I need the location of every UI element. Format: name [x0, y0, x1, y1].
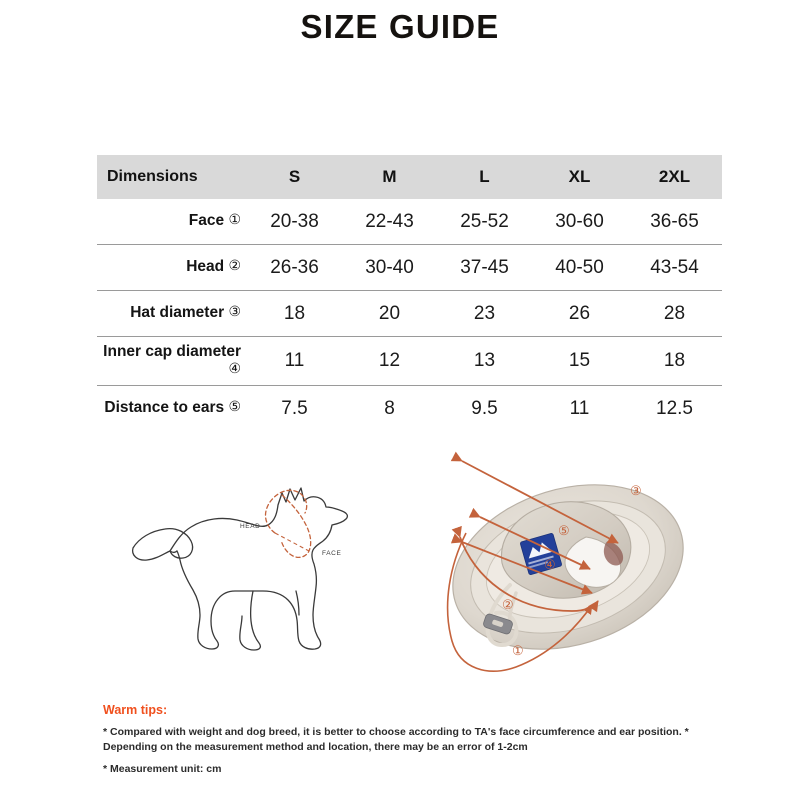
warm-tips-line-1: * Compared with weight and dog breed, it…	[103, 725, 723, 755]
dog-head-label: HEAD	[240, 523, 260, 530]
row-label-text: Head	[186, 258, 224, 275]
row-label-text: Inner cap diameter	[103, 343, 241, 360]
table-body: Face ① 20-38 22-43 25-52 30-60 36-65 Hea…	[97, 199, 722, 431]
table-row: Distance to ears ⑤ 7.5 8 9.5 11 12.5	[97, 386, 722, 432]
cell-distance-to-ears-l: 9.5	[437, 386, 532, 432]
warm-tips-line-2: * Measurement unit: cm	[103, 762, 723, 777]
cell-distance-to-ears-s: 7.5	[247, 386, 342, 432]
cell-inner-cap-diameter-l: 13	[437, 337, 532, 386]
column-header-xl: XL	[532, 155, 627, 199]
cell-head-2xl: 43-54	[627, 245, 722, 291]
cell-inner-cap-diameter-2xl: 18	[627, 337, 722, 386]
cell-distance-to-ears-m: 8	[342, 386, 437, 432]
column-header-2xl: 2XL	[627, 155, 722, 199]
cell-hat-diameter-m: 20	[342, 291, 437, 337]
cell-distance-to-ears-2xl: 12.5	[627, 386, 722, 432]
circled-number-icon: ③	[228, 303, 241, 320]
circled-number-icon: ④	[228, 360, 241, 377]
dog-face-label: FACE	[322, 550, 341, 557]
page-title: SIZE GUIDE	[0, 8, 800, 46]
cell-distance-to-ears-xl: 11	[532, 386, 627, 432]
cell-face-s: 20-38	[247, 199, 342, 245]
cell-inner-cap-diameter-s: 11	[247, 337, 342, 386]
table-row: Hat diameter ③ 18 20 23 26 28	[97, 291, 722, 337]
cell-face-l: 25-52	[437, 199, 532, 245]
row-label-text: Distance to ears	[104, 399, 224, 416]
hat-marker-5: ⑤	[558, 523, 570, 539]
table-row: Inner cap diameter ④ 11 12 13 15 18	[97, 337, 722, 386]
cell-hat-diameter-xl: 26	[532, 291, 627, 337]
row-label-head: Head ②	[97, 245, 247, 291]
table-row: Face ① 20-38 22-43 25-52 30-60 36-65	[97, 199, 722, 245]
column-header-dimensions: Dimensions	[97, 155, 247, 199]
hat-marker-1: ①	[512, 643, 524, 659]
size-chart-table: Dimensions S M L XL 2XL Face ① 20-38 22-…	[97, 155, 722, 431]
cell-face-xl: 30-60	[532, 199, 627, 245]
table-header: Dimensions S M L XL 2XL	[97, 155, 722, 199]
row-label-distance-to-ears: Distance to ears ⑤	[97, 386, 247, 432]
table-header-row: Dimensions S M L XL 2XL	[97, 155, 722, 199]
circled-number-icon: ②	[228, 257, 241, 274]
warm-tips-section: Warm tips: * Compared with weight and do…	[103, 703, 723, 778]
row-label-text: Hat diameter	[130, 304, 224, 321]
cell-head-l: 37-45	[437, 245, 532, 291]
cell-face-m: 22-43	[342, 199, 437, 245]
dog-outline-diagram: HEAD FACE	[125, 455, 405, 655]
row-label-text: Face	[189, 212, 224, 229]
column-header-l: L	[437, 155, 532, 199]
cell-inner-cap-diameter-m: 12	[342, 337, 437, 386]
cell-face-2xl: 36-65	[627, 199, 722, 245]
circled-number-icon: ⑤	[228, 398, 241, 415]
cell-hat-diameter-2xl: 28	[627, 291, 722, 337]
row-label-inner-cap-diameter: Inner cap diameter ④	[97, 337, 247, 386]
cell-head-s: 26-36	[247, 245, 342, 291]
pet-hat-illustration	[440, 445, 740, 680]
cell-head-xl: 40-50	[532, 245, 627, 291]
cell-hat-diameter-l: 23	[437, 291, 532, 337]
size-guide-page: SIZE GUIDE Dimensions S M L XL 2XL Face …	[0, 0, 800, 800]
cell-hat-diameter-s: 18	[247, 291, 342, 337]
hat-marker-2: ②	[502, 597, 514, 613]
hat-marker-4: ④	[544, 557, 556, 573]
column-header-s: S	[247, 155, 342, 199]
dog-silhouette-icon	[125, 455, 405, 655]
warm-tips-title: Warm tips:	[103, 703, 723, 717]
column-header-m: M	[342, 155, 437, 199]
row-label-hat-diameter: Hat diameter ③	[97, 291, 247, 337]
hat-measurement-diagram: ③ ⑤ ④ ② ①	[440, 445, 740, 680]
cell-head-m: 30-40	[342, 245, 437, 291]
illustration-band: HEAD FACE	[0, 445, 800, 685]
row-label-face: Face ①	[97, 199, 247, 245]
hat-marker-3: ③	[630, 483, 642, 499]
circled-number-icon: ①	[228, 211, 241, 228]
table-row: Head ② 26-36 30-40 37-45 40-50 43-54	[97, 245, 722, 291]
cell-inner-cap-diameter-xl: 15	[532, 337, 627, 386]
